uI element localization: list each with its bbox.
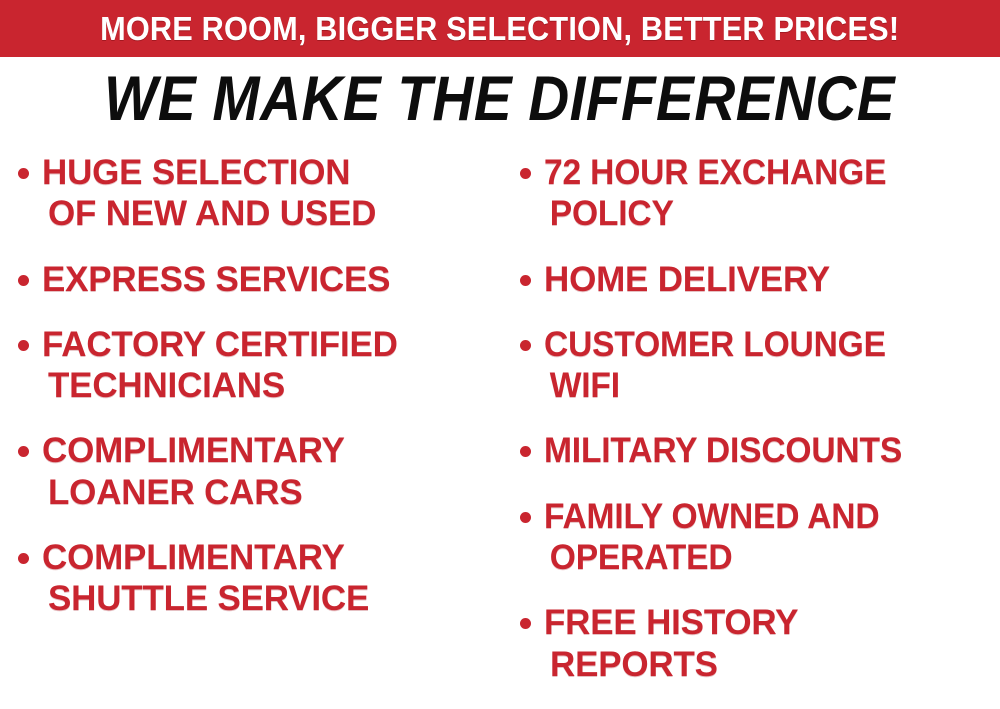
list-item: FACTORY CERTIFIED TECHNICIANS bbox=[18, 324, 505, 407]
main-headline-text: WE MAKE THE DIFFERENCE bbox=[104, 66, 895, 132]
features-columns: HUGE SELECTION OF NEW AND USED EXPRESS S… bbox=[0, 152, 1000, 694]
dealership-promo-banner: MORE ROOM, BIGGER SELECTION, BETTER PRIC… bbox=[0, 0, 1000, 694]
feature-label: FAMILY OWNED AND OPERATED bbox=[544, 496, 879, 579]
feature-label: 72 HOUR EXCHANGE POLICY bbox=[544, 152, 886, 235]
bullet-dot-icon bbox=[18, 168, 29, 179]
feature-line-1: COMPLIMENTARY bbox=[42, 431, 345, 470]
bullet-dot-icon bbox=[18, 275, 29, 286]
feature-label: COMPLIMENTARY LOANER CARS bbox=[42, 430, 345, 513]
feature-line-2: TECHNICIANS bbox=[42, 365, 398, 406]
feature-label: FREE HISTORY REPORTS bbox=[544, 602, 798, 685]
feature-line-2: OPERATED bbox=[544, 537, 879, 578]
list-item: COMPLIMENTARY LOANER CARS bbox=[18, 430, 505, 513]
feature-line-2: POLICY bbox=[544, 193, 886, 234]
bullet-dot-icon bbox=[520, 512, 531, 523]
top-red-strip: MORE ROOM, BIGGER SELECTION, BETTER PRIC… bbox=[0, 0, 1000, 57]
feature-line-2: SHUTTLE SERVICE bbox=[42, 578, 369, 619]
feature-label: FACTORY CERTIFIED TECHNICIANS bbox=[42, 324, 398, 407]
bullet-dot-icon bbox=[520, 275, 531, 286]
list-item: MILITARY DISCOUNTS bbox=[520, 430, 1000, 471]
feature-label: HUGE SELECTION OF NEW AND USED bbox=[42, 152, 376, 235]
feature-line-1: COMPLIMENTARY bbox=[42, 538, 345, 577]
features-column-right: 72 HOUR EXCHANGE POLICY HOME DELIVERY CU… bbox=[505, 152, 1000, 709]
list-item: HUGE SELECTION OF NEW AND USED bbox=[18, 152, 505, 235]
feature-label: EXPRESS SERVICES bbox=[42, 259, 390, 300]
list-item: CUSTOMER LOUNGE WIFI bbox=[520, 324, 1000, 407]
feature-line-1: EXPRESS SERVICES bbox=[42, 260, 390, 299]
feature-label: CUSTOMER LOUNGE WIFI bbox=[544, 324, 886, 407]
bullet-dot-icon bbox=[520, 168, 531, 179]
feature-line-1: FREE HISTORY bbox=[544, 603, 798, 642]
bullet-dot-icon bbox=[18, 446, 29, 457]
bullet-dot-icon bbox=[520, 446, 531, 457]
list-item: FAMILY OWNED AND OPERATED bbox=[520, 496, 1000, 579]
feature-line-1: MILITARY DISCOUNTS bbox=[544, 431, 902, 470]
feature-line-2: WIFI bbox=[544, 365, 886, 406]
feature-label: HOME DELIVERY bbox=[544, 259, 830, 300]
feature-line-2: REPORTS bbox=[544, 644, 798, 685]
list-item: EXPRESS SERVICES bbox=[18, 259, 505, 300]
feature-line-1: FAMILY OWNED AND bbox=[544, 497, 879, 536]
feature-line-1: 72 HOUR EXCHANGE bbox=[544, 153, 886, 192]
feature-line-2: LOANER CARS bbox=[42, 472, 345, 513]
bullet-dot-icon bbox=[520, 340, 531, 351]
features-column-left: HUGE SELECTION OF NEW AND USED EXPRESS S… bbox=[0, 152, 505, 644]
feature-line-1: HOME DELIVERY bbox=[544, 260, 830, 299]
main-headline: WE MAKE THE DIFFERENCE bbox=[0, 66, 1000, 132]
bullet-dot-icon bbox=[18, 340, 29, 351]
list-item: 72 HOUR EXCHANGE POLICY bbox=[520, 152, 1000, 235]
bullet-dot-icon bbox=[520, 618, 531, 629]
feature-line-1: FACTORY CERTIFIED bbox=[42, 325, 398, 364]
feature-label: COMPLIMENTARY SHUTTLE SERVICE bbox=[42, 537, 369, 620]
list-item: HOME DELIVERY bbox=[520, 259, 1000, 300]
feature-label: MILITARY DISCOUNTS bbox=[544, 430, 902, 471]
promo-strip-text: MORE ROOM, BIGGER SELECTION, BETTER PRIC… bbox=[100, 12, 899, 45]
list-item: FREE HISTORY REPORTS bbox=[520, 602, 1000, 685]
feature-line-1: HUGE SELECTION bbox=[42, 153, 350, 192]
list-item: COMPLIMENTARY SHUTTLE SERVICE bbox=[18, 537, 505, 620]
feature-line-1: CUSTOMER LOUNGE bbox=[544, 325, 886, 364]
bullet-dot-icon bbox=[18, 553, 29, 564]
feature-line-2: OF NEW AND USED bbox=[42, 193, 376, 234]
